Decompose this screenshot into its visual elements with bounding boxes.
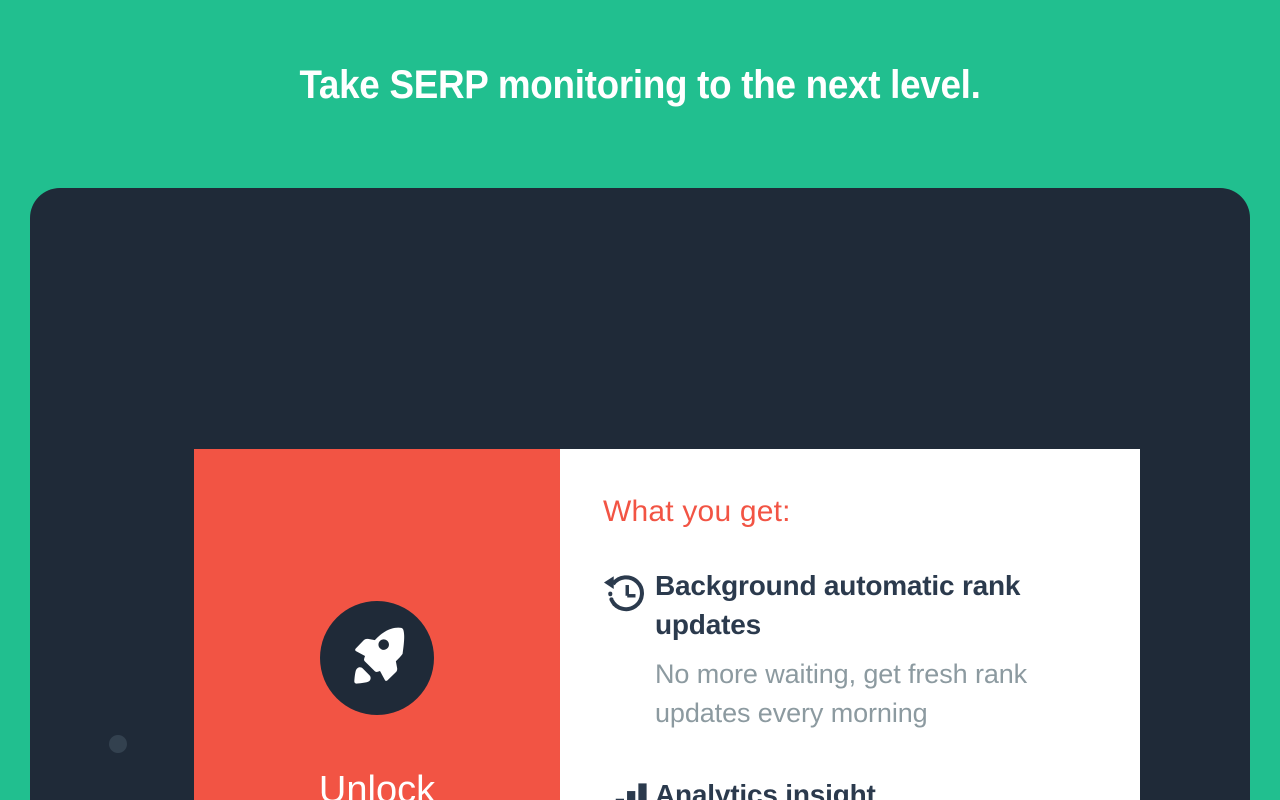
feature-title: Background automatic rank updates	[655, 566, 1065, 644]
rocket-icon	[344, 625, 410, 691]
history-clock-icon	[603, 566, 655, 618]
features-pane: What you get:	[560, 449, 1140, 800]
bar-chart-icon	[603, 775, 655, 800]
promo-title-line-1: Unlock	[256, 767, 499, 800]
feature-item: Analytics insight Summary and detailed a…	[603, 775, 1100, 800]
promo-title: Unlock PRO Features	[256, 767, 499, 800]
promo-pane: Unlock PRO Features	[194, 449, 560, 800]
feature-description: No more waiting, get fresh rank updates …	[655, 655, 1065, 733]
feature-item: Background automatic rank updates No mor…	[603, 566, 1100, 733]
page-headline: Take SERP monitoring to the next level.	[51, 60, 1229, 110]
tablet-device-frame: Unlock PRO Features What you get:	[30, 188, 1250, 800]
features-heading: What you get:	[603, 494, 1100, 530]
rocket-icon-badge	[320, 601, 434, 715]
feature-body: Analytics insight Summary and detailed a…	[655, 775, 1065, 800]
feature-body: Background automatic rank updates No mor…	[655, 566, 1065, 733]
feature-title: Analytics insight	[655, 775, 1065, 800]
promo-screen: Take SERP monitoring to the next level. …	[0, 0, 1280, 800]
camera-dot	[109, 735, 127, 753]
pro-features-card: Unlock PRO Features What you get:	[194, 449, 1140, 800]
